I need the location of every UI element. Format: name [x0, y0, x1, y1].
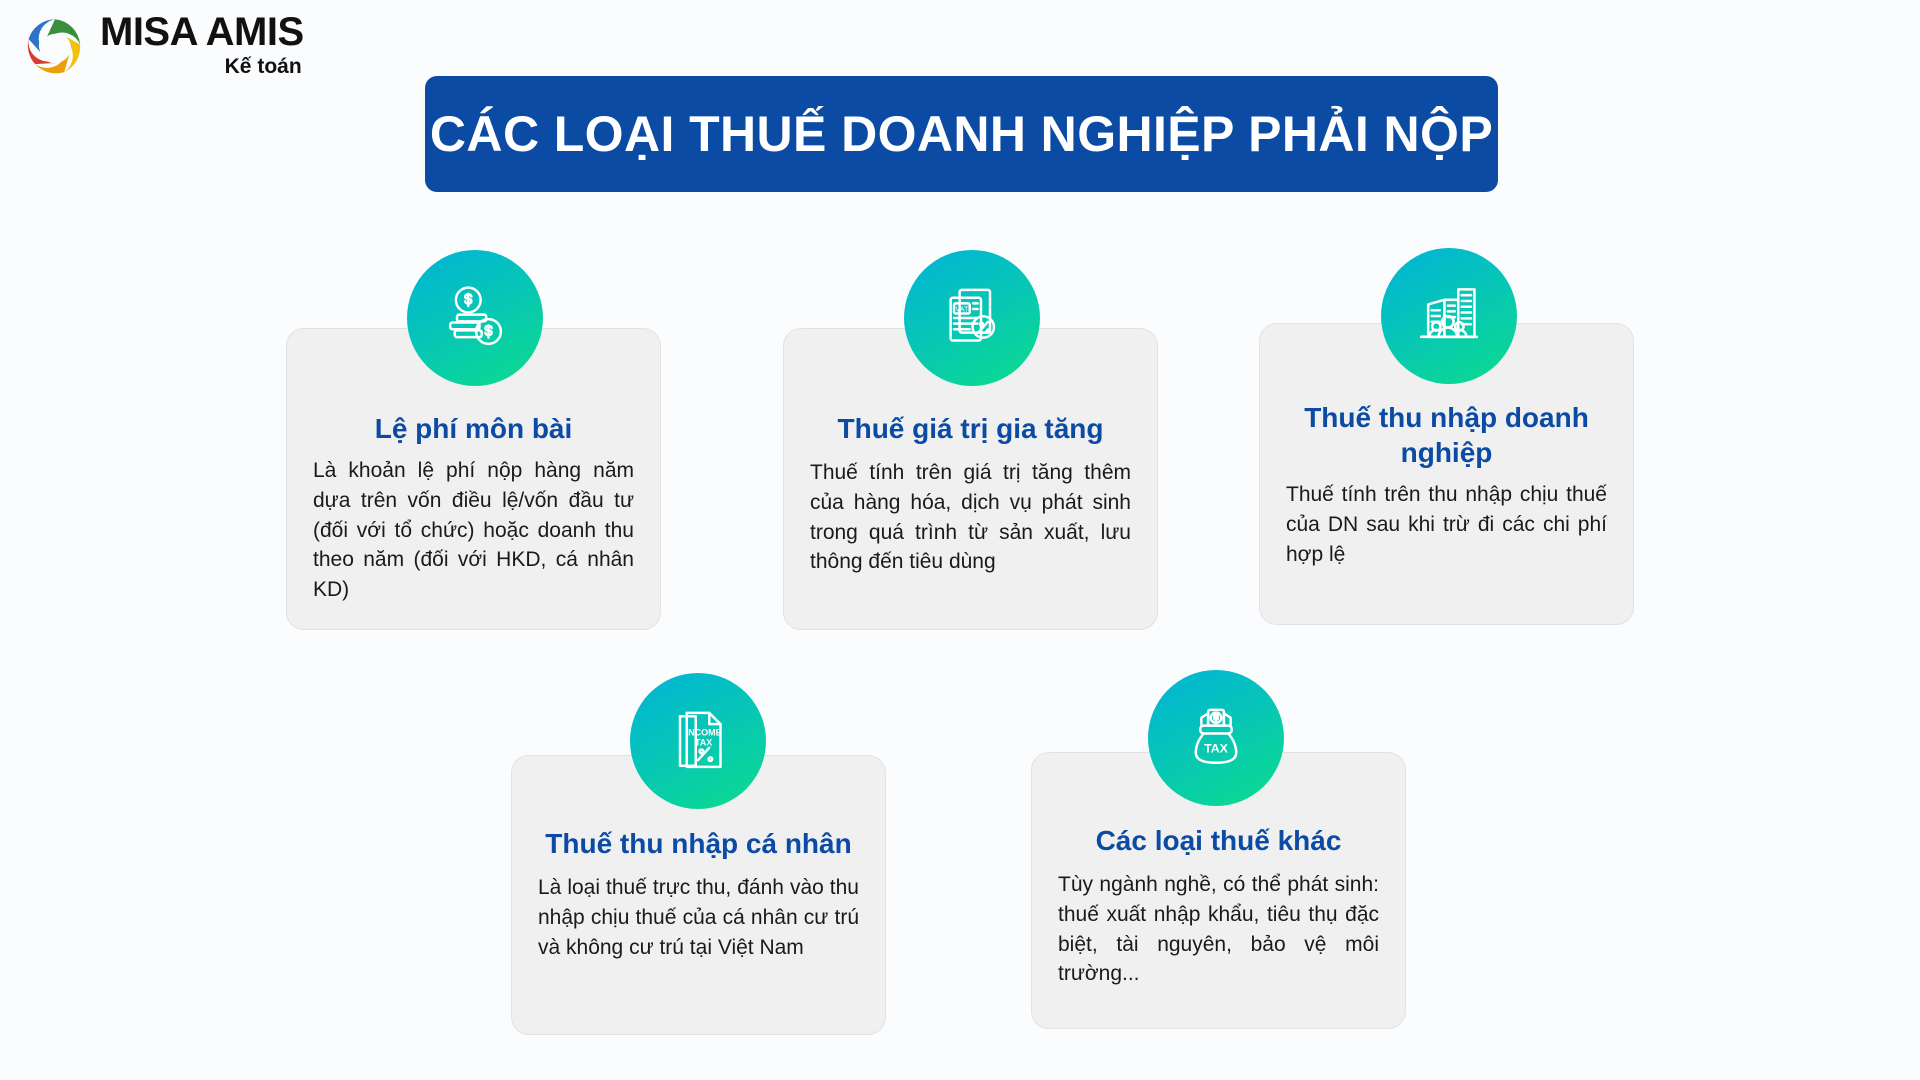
svg-text:VAT: VAT — [955, 304, 969, 313]
card-title: Các loại thuế khác — [1058, 823, 1379, 858]
page-title-banner: CÁC LOẠI THUẾ DOANH NGHIỆP PHẢI NỘP — [425, 76, 1498, 192]
tax-money-bag-icon: TAX — [1148, 670, 1284, 806]
income-tax-document-percent-icon: INCOME TAX — [630, 673, 766, 809]
brand-wordmark: MISA AMIS — [100, 12, 304, 53]
card-title: Thuế thu nhập doanh nghiệp — [1286, 400, 1607, 470]
card-body: Thuế tính trên thu nhập chịu thuế của DN… — [1286, 480, 1607, 569]
page-title: CÁC LOẠI THUẾ DOANH NGHIỆP PHẢI NỘP — [430, 105, 1493, 163]
svg-text:TAX: TAX — [695, 738, 712, 748]
misa-swirl-logo-icon — [22, 14, 88, 80]
svg-text:INCOME: INCOME — [686, 727, 722, 737]
card-title: Lệ phí môn bài — [313, 411, 634, 446]
svg-text:TAX: TAX — [1204, 742, 1229, 756]
card-title: Thuế thu nhập cá nhân — [538, 826, 859, 861]
brand-subtitle: Kế toán — [225, 55, 302, 78]
card-body: Là khoản lệ phí nộp hàng năm dựa trên vố… — [313, 456, 634, 605]
brand-logo: MISA AMIS Kế toán — [22, 12, 304, 80]
stacked-coins-dollar-icon — [407, 250, 543, 386]
card-body: Thuế tính trên giá trị tăng thêm của hàn… — [810, 458, 1131, 577]
office-buildings-people-icon — [1381, 248, 1517, 384]
card-title: Thuế giá trị gia tăng — [810, 411, 1131, 446]
vat-document-percent-icon: VAT — [904, 250, 1040, 386]
card-body: Là loại thuế trực thu, đánh vào thu nhập… — [538, 873, 859, 962]
card-body: Tùy ngành nghề, có thể phát sinh: thuế x… — [1058, 870, 1379, 989]
